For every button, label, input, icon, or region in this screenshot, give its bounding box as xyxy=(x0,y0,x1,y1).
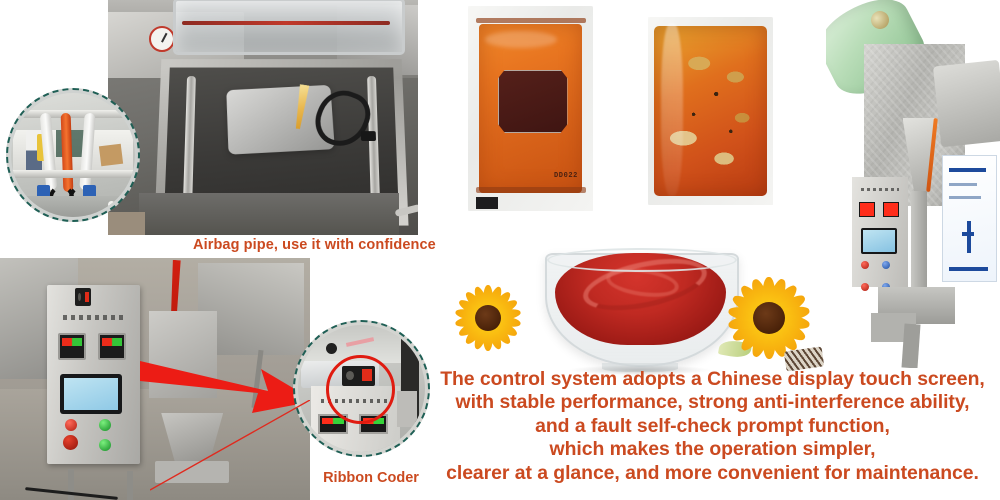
label-window xyxy=(498,70,568,134)
brand-label-line-1 xyxy=(949,168,987,172)
chunky-chili-sauce-packet xyxy=(648,17,773,205)
control-text-line-4: which makes the operation simpler, xyxy=(425,438,1000,461)
temperature-controller-left xyxy=(859,202,875,217)
sunflower-left xyxy=(452,282,524,354)
button-red-2[interactable] xyxy=(861,283,869,291)
filling-unit xyxy=(149,311,217,398)
highlight-ring xyxy=(326,355,395,424)
discharge-tray xyxy=(155,461,229,483)
control-text-line-3: and a fault self-check prompt function, xyxy=(425,415,1000,438)
airbag-caption: Airbag pipe, use it with confidence xyxy=(193,237,425,253)
machine-base xyxy=(139,193,399,235)
temperature-controller-right xyxy=(883,202,899,217)
side-equipment xyxy=(397,391,417,427)
touch-screen[interactable] xyxy=(60,374,122,414)
brand-label-mark xyxy=(962,221,973,254)
orange-airbag-tube xyxy=(60,113,73,193)
upper-rail xyxy=(16,110,130,118)
inset-photo xyxy=(298,325,425,452)
lower-rail xyxy=(11,170,135,178)
black-knob xyxy=(326,343,337,354)
orange-sauce-packet: DD022 xyxy=(468,6,593,211)
machine-base xyxy=(11,196,135,217)
airbag-pipe-closeup-inset xyxy=(6,88,140,222)
control-text-line-1: The control system adopts a Chinese disp… xyxy=(425,368,1000,391)
ketchup-bowl xyxy=(545,245,735,370)
sealing-bar-left xyxy=(183,76,196,201)
lid-seal-strip xyxy=(182,21,390,25)
vacuum-chamber-sealer-photo xyxy=(108,0,418,235)
vacuum-lid-glass xyxy=(173,0,405,55)
power-plug xyxy=(360,132,375,142)
emergency-stop-button[interactable] xyxy=(63,435,78,450)
temperature-controller-left xyxy=(58,333,86,360)
touch-screen[interactable] xyxy=(861,228,898,254)
ribbon-coder-closeup-inset xyxy=(293,320,430,457)
bottom-seal xyxy=(476,187,586,193)
film-highlight xyxy=(661,23,684,196)
packet-printed-code: DD022 xyxy=(554,172,578,180)
ribbon-coder-caption: Ribbon Coder xyxy=(311,470,431,486)
control-cabinet xyxy=(47,285,140,464)
control-text-line-2: with stable performance, strong anti-int… xyxy=(425,391,1000,414)
horizontal-hopper-tube xyxy=(933,59,1000,146)
brand-label xyxy=(942,155,996,282)
ribbon-coder-unit xyxy=(75,288,91,306)
flower-center xyxy=(475,305,501,331)
photo-eye-mark xyxy=(476,197,498,209)
top-seal xyxy=(476,18,586,23)
machine-leg-right xyxy=(127,471,133,500)
chinese-panel-label xyxy=(63,315,123,320)
control-text-line-5: clearer at a glance, and more convenient… xyxy=(425,462,1000,485)
machine-foot xyxy=(901,323,920,368)
packing-machine-with-coder-photo xyxy=(0,258,310,500)
chinese-panel-label xyxy=(861,188,899,191)
button-green-2[interactable] xyxy=(99,439,111,451)
button-blue[interactable] xyxy=(882,261,890,269)
button-red[interactable] xyxy=(65,419,77,431)
button-green[interactable] xyxy=(99,419,111,431)
brand-label-line-4 xyxy=(949,267,989,271)
clear-airbag-tube-right xyxy=(79,113,95,190)
temperature-controller-right xyxy=(98,333,126,360)
vertical-form-fill-seal-machine-photo xyxy=(826,0,1000,368)
cardboard-box xyxy=(99,144,124,166)
inset-photo xyxy=(11,93,135,217)
product-feature-collage: Airbag pipe, use it with confidence xyxy=(0,0,1000,500)
bowl-rim xyxy=(547,248,737,272)
pressure-gauge-icon xyxy=(149,26,175,52)
brand-label-line-2 xyxy=(949,183,977,186)
control-system-description: The control system adopts a Chinese disp… xyxy=(425,368,1000,485)
sunflower-right xyxy=(724,273,814,363)
brand-label-line-3 xyxy=(949,196,981,199)
